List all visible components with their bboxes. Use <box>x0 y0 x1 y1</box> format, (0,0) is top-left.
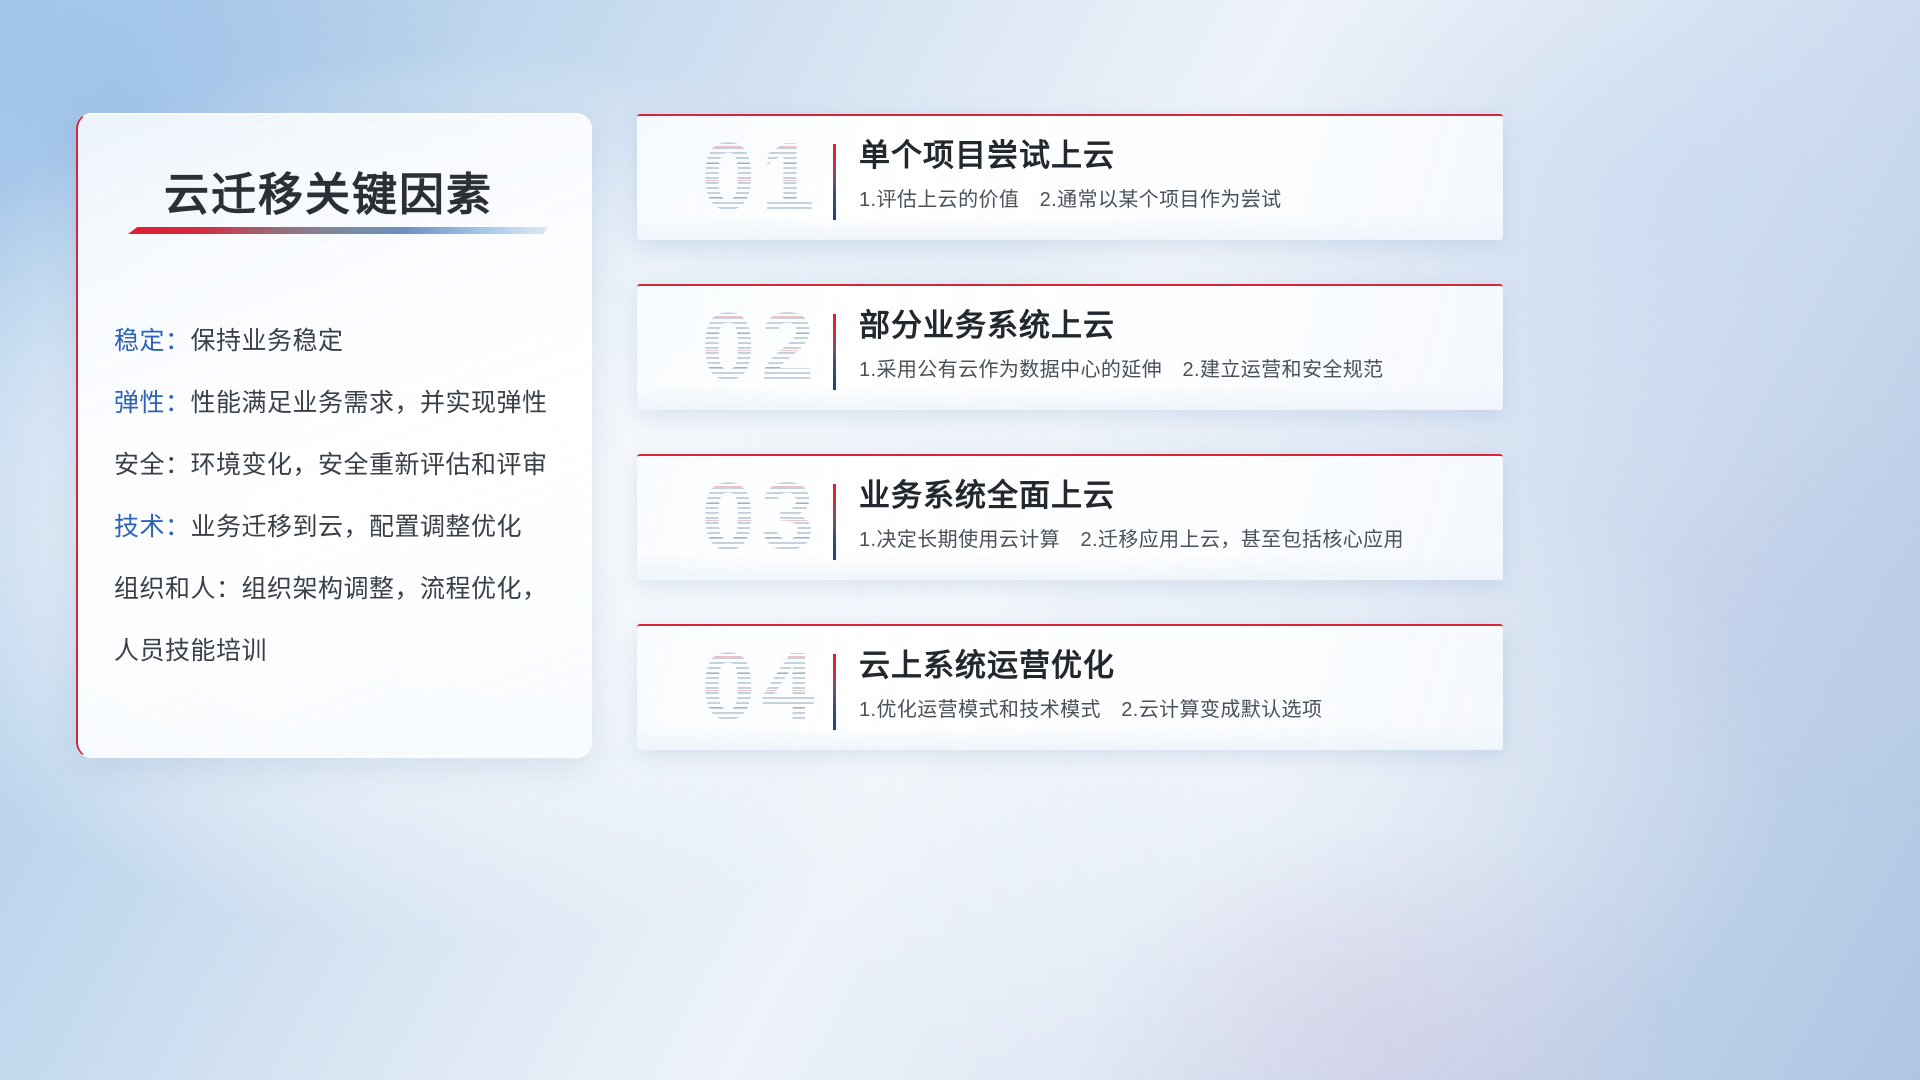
list-item: 人员技能培训 <box>114 620 574 682</box>
list-item-text: 人员技能培训 <box>114 637 267 665</box>
list-item-label: 技术： <box>114 513 191 541</box>
list-item-label: 弹性： <box>114 389 191 417</box>
stage-number: 04 <box>661 624 861 750</box>
list-item: 技术：业务迁移到云，配置调整优化 <box>114 496 574 558</box>
stage-card[interactable]: 02 02 部分业务系统上云 1.采用公有云作为数据中心的延伸 2.建立运营和安… <box>637 284 1503 410</box>
key-factors-list: 稳定：保持业务稳定 弹性：性能满足业务需求，并实现弹性 安全：环境变化，安全重新… <box>114 310 574 682</box>
page-title: 云迁移关键因素 <box>164 158 493 223</box>
list-item-label: 稳定： <box>114 327 191 355</box>
stage-accent-bar <box>833 654 836 730</box>
stage-card[interactable]: 03 03 业务系统全面上云 1.决定长期使用云计算 2.迁移应用上云，甚至包括… <box>637 454 1503 580</box>
stage-card-list: 01 01 单个项目尝试上云 1.评估上云的价值 2.通常以某个项目作为尝试 0… <box>637 114 1503 794</box>
stage-title: 业务系统全面上云 <box>859 474 1483 518</box>
stage-text-block: 部分业务系统上云 1.采用公有云作为数据中心的延伸 2.建立运营和安全规范 <box>859 304 1483 384</box>
stage-title: 部分业务系统上云 <box>859 304 1483 348</box>
stage-number: 02 <box>661 284 861 410</box>
list-item-text: 性能满足业务需求，并实现弹性 <box>191 389 548 417</box>
list-item: 弹性：性能满足业务需求，并实现弹性 <box>114 372 574 434</box>
stage-text-block: 业务系统全面上云 1.决定长期使用云计算 2.迁移应用上云，甚至包括核心应用 <box>859 474 1483 554</box>
list-item: 组织和人：组织架构调整，流程优化， <box>114 558 574 620</box>
stage-title: 单个项目尝试上云 <box>859 134 1483 178</box>
stage-card[interactable]: 04 04 云上系统运营优化 1.优化运营模式和技术模式 2.云计算变成默认选项 <box>637 624 1503 750</box>
stage-number: 03 <box>661 454 861 580</box>
list-item-text: 业务迁移到云，配置调整优化 <box>191 513 523 541</box>
list-item-text: 环境变化，安全重新评估和评审 <box>191 451 548 479</box>
stage-text-block: 云上系统运营优化 1.优化运营模式和技术模式 2.云计算变成默认选项 <box>859 644 1483 724</box>
stage-text-block: 单个项目尝试上云 1.评估上云的价值 2.通常以某个项目作为尝试 <box>859 134 1483 214</box>
slide-canvas: 云迁移关键因素 稳定：保持业务稳定 弹性：性能满足业务需求，并实现弹性 安全：环… <box>0 0 1920 1080</box>
stage-accent-bar <box>833 144 836 220</box>
list-item: 安全：环境变化，安全重新评估和评审 <box>114 434 574 496</box>
stage-subtitle: 1.决定长期使用云计算 2.迁移应用上云，甚至包括核心应用 <box>859 526 1483 554</box>
key-factors-panel: 云迁移关键因素 稳定：保持业务稳定 弹性：性能满足业务需求，并实现弹性 安全：环… <box>76 113 592 758</box>
list-item-label: 组织和人： <box>114 575 242 603</box>
list-item: 稳定：保持业务稳定 <box>114 310 574 372</box>
stage-subtitle: 1.评估上云的价值 2.通常以某个项目作为尝试 <box>859 186 1483 214</box>
stage-accent-bar <box>833 484 836 560</box>
stage-card[interactable]: 01 01 单个项目尝试上云 1.评估上云的价值 2.通常以某个项目作为尝试 <box>637 114 1503 240</box>
stage-number: 01 <box>661 114 861 240</box>
title-underline-accent <box>128 227 548 234</box>
stage-subtitle: 1.优化运营模式和技术模式 2.云计算变成默认选项 <box>859 696 1483 724</box>
stage-accent-bar <box>833 314 836 390</box>
stage-subtitle: 1.采用公有云作为数据中心的延伸 2.建立运营和安全规范 <box>859 356 1483 384</box>
stage-title: 云上系统运营优化 <box>859 644 1483 688</box>
list-item-text: 组织架构调整，流程优化， <box>242 575 548 603</box>
list-item-text: 保持业务稳定 <box>191 327 344 355</box>
list-item-label: 安全： <box>114 451 191 479</box>
